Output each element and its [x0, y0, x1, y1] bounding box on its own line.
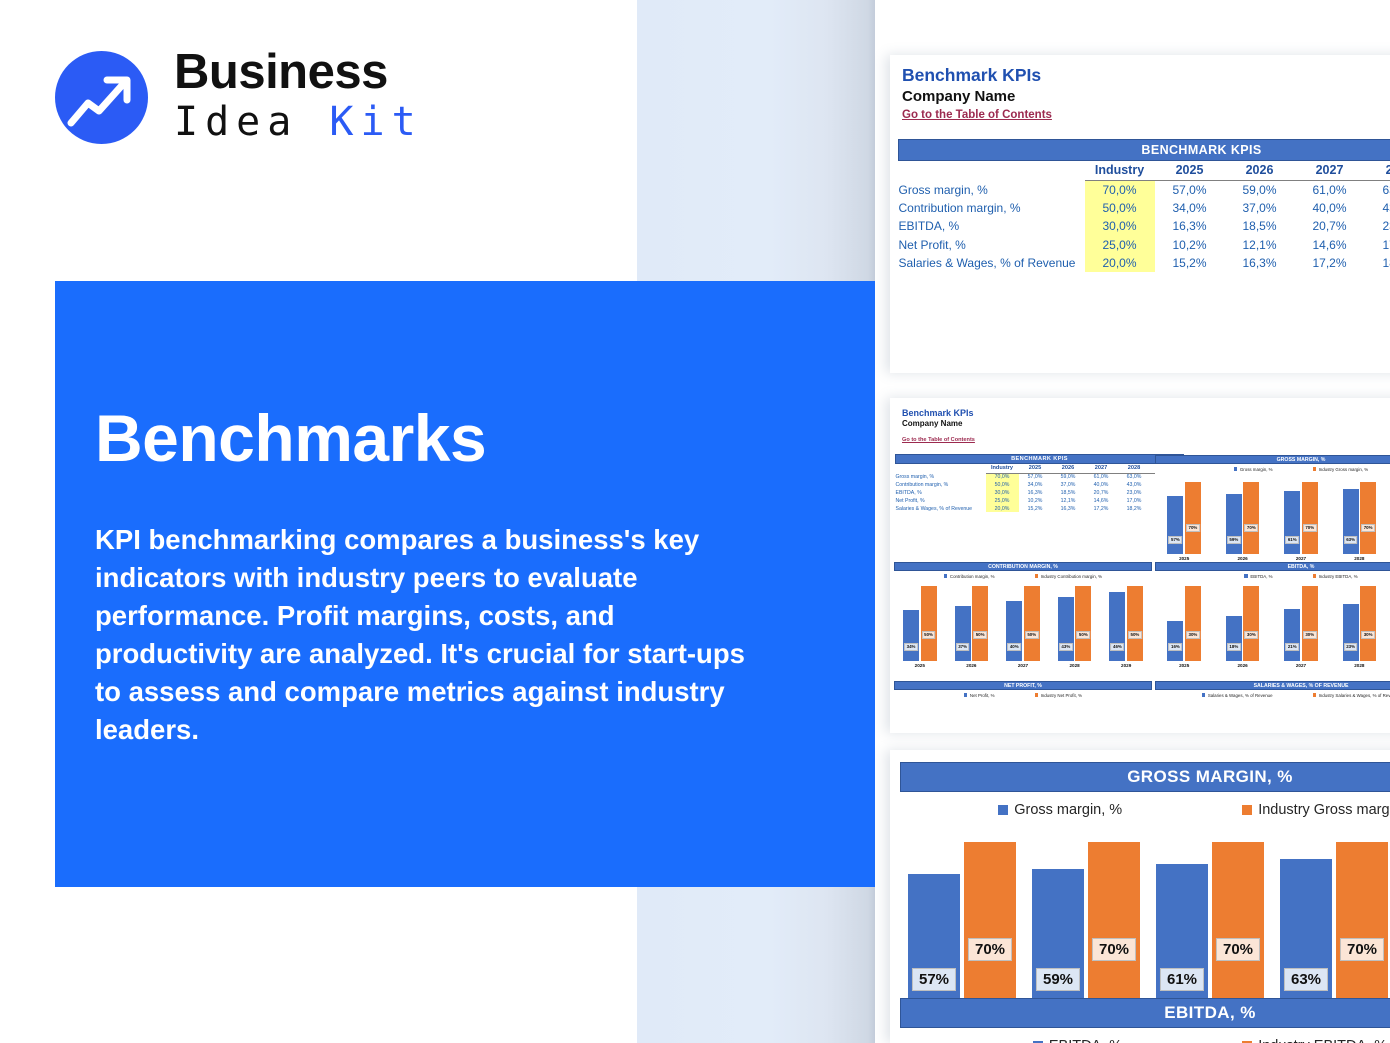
bar-company[interactable]: 46%: [1109, 592, 1125, 661]
x-axis-tick: 2026: [1223, 663, 1263, 668]
chart-plot-area: 34%50%37%50%40%50%43%50%46%50%: [894, 579, 1152, 661]
bar-group: 59%70%: [1024, 842, 1148, 1013]
bar-group: 34%50%: [900, 586, 940, 661]
table-column-header: 2027: [1295, 161, 1365, 181]
brand-idea-text: Idea: [174, 99, 298, 145]
mini-spreadsheet-header: Benchmark KPIs Company Name Go to the Ta…: [890, 398, 1390, 446]
bar-company[interactable]: 57%: [1167, 496, 1183, 554]
bar-group: 43%50%: [1055, 586, 1095, 661]
table-row: EBITDA, %30,0%16,3%18,5%20,7%23,0%25,2%: [899, 217, 1390, 235]
legend-item[interactable]: EBITDA, %: [1033, 1038, 1122, 1043]
year-value: 16,3%: [1155, 217, 1225, 235]
table-corner-cell: [896, 464, 986, 474]
chart-legend: Net Profit, %Industry Net Profit, %: [894, 693, 1152, 698]
bar-company[interactable]: 59%: [1226, 494, 1242, 554]
year-value: 61,0%: [1295, 181, 1365, 200]
bar-data-label: 46%: [1111, 643, 1125, 651]
year-value: 34,0%: [1155, 199, 1225, 217]
brand-wordmark: Business Idea Kit: [174, 48, 423, 146]
table-row: EBITDA, %30,0%16,3%18,5%20,7%23,0%25,2%: [896, 489, 1184, 497]
year-value: 18,2%: [1118, 505, 1151, 513]
row-label: Salaries & Wages, % of Revenue: [896, 505, 986, 513]
bar-data-label: 70%: [1340, 938, 1384, 961]
bar-group: 59%70%: [1223, 482, 1263, 554]
bar-data-label: 23%: [1344, 643, 1358, 651]
bar-data-label: 59%: [1036, 968, 1080, 991]
bar-company[interactable]: 61%: [1284, 491, 1300, 554]
table-row: Salaries & Wages, % of Revenue20,0%15,2%…: [896, 505, 1184, 513]
year-value: 14,6%: [1085, 497, 1118, 505]
spreadsheet-card-table[interactable]: Benchmark KPIs Company Name Go to the Ta…: [890, 55, 1390, 373]
row-label: EBITDA, %: [899, 217, 1085, 235]
bar-industry[interactable]: 30%: [1360, 586, 1376, 661]
bar-group: 23%30%: [1339, 586, 1379, 661]
legend-swatch-icon: [1313, 693, 1317, 697]
legend-label: Net Profit, %: [970, 693, 995, 698]
bar-company[interactable]: 21%: [1284, 609, 1300, 661]
bar-industry[interactable]: 30%: [1302, 586, 1318, 661]
legend-label: Industry Net Profit, %: [1041, 693, 1082, 698]
bar-company[interactable]: 63%: [1280, 859, 1332, 1013]
year-value: 15,2%: [1019, 505, 1052, 513]
bar-data-label: 30%: [1186, 631, 1200, 639]
bar-data-label: 21%: [1285, 643, 1299, 651]
bar-industry[interactable]: 70%: [1243, 482, 1259, 554]
industry-value: 70,0%: [986, 473, 1019, 481]
mini-benchmark-kpi-table: BENCHMARK KPIS Industry20252026202720282…: [895, 454, 1184, 512]
chart-panel-ebitda-large[interactable]: EBITDA, %EBITDA, %Industry EBITDA, %: [900, 998, 1390, 1043]
bar-company[interactable]: 63%: [1343, 489, 1359, 554]
bar-industry[interactable]: 70%: [1088, 842, 1140, 1013]
year-value: 23,0%: [1118, 489, 1151, 497]
bar-data-label: 34%: [904, 643, 918, 651]
legend-item[interactable]: Net Profit, %: [964, 693, 995, 698]
table-of-contents-link[interactable]: Go to the Table of Contents: [902, 109, 1052, 121]
chart-panel-salaries-wages[interactable]: SALARIES & WAGES, % OF REVENUESalaries &…: [1155, 681, 1390, 698]
x-axis-tick: 2026: [951, 663, 991, 668]
chart-plot-area: 16%30%18%30%21%30%23%30%25%30%: [1155, 579, 1390, 661]
bar-company[interactable]: 43%: [1058, 597, 1074, 661]
legend-swatch-icon: [1313, 574, 1317, 578]
year-value: 17,2%: [1295, 254, 1365, 272]
legend-label: Industry Salaries & Wages, % of Revenue: [1319, 693, 1390, 698]
bar-data-label: 70%: [1216, 938, 1260, 961]
bar-data-label: 63%: [1284, 968, 1328, 991]
year-value: 10,2%: [1155, 236, 1225, 254]
year-value: 23,0%: [1365, 217, 1390, 235]
chart-plot-area: 57%70%59%70%61%70%63%70%65%70%: [900, 818, 1390, 1013]
legend-swatch-icon: [1313, 467, 1317, 471]
bar-company[interactable]: 59%: [1032, 869, 1084, 1013]
x-axis: 20252026202720282029: [1155, 663, 1390, 668]
spreadsheet-title: Benchmark KPIs: [902, 65, 1390, 86]
x-axis-tick: 2029: [1106, 663, 1146, 668]
year-value: 16,3%: [1225, 254, 1295, 272]
bar-industry[interactable]: 50%: [921, 586, 937, 661]
legend-item[interactable]: Industry EBITDA, %: [1242, 1038, 1387, 1043]
bar-data-label: 50%: [922, 631, 936, 639]
year-value: 16,3%: [1052, 505, 1085, 513]
chart-panel-ebitda[interactable]: EBITDA, %EBITDA, %Industry EBITDA, %16%3…: [1155, 562, 1390, 668]
year-value: 12,1%: [1052, 497, 1085, 505]
chart-plot-area: 57%70%59%70%61%70%63%70%65%70%: [1155, 472, 1390, 554]
year-value: 59,0%: [1052, 473, 1085, 481]
bar-group: 63%70%: [1272, 842, 1390, 1013]
bar-group: 40%50%: [1003, 586, 1043, 661]
x-axis-tick: 2026: [1223, 556, 1263, 561]
table-column-header: 2028: [1365, 161, 1390, 181]
chart-panel-gross-margin[interactable]: GROSS MARGIN, %Gross margin, %Industry G…: [1155, 455, 1390, 561]
year-value: 63,0%: [1365, 181, 1390, 200]
chart-legend: EBITDA, %Industry EBITDA, %: [900, 1038, 1390, 1043]
year-value: 37,0%: [1225, 199, 1295, 217]
industry-value: 20,0%: [986, 505, 1019, 513]
bar-data-label: 18%: [1227, 643, 1241, 651]
mini-table-body: Gross margin, %70,0%57,0%59,0%61,0%63,0%…: [896, 473, 1184, 512]
year-value: 17,2%: [1085, 505, 1118, 513]
industry-value: 50,0%: [1085, 199, 1155, 217]
chart-panel-gross-margin-large[interactable]: GROSS MARGIN, %Gross margin, %Industry G…: [900, 762, 1390, 1037]
year-value: 16,3%: [1019, 489, 1052, 497]
bar-industry[interactable]: 30%: [1243, 586, 1259, 661]
chart-legend: Salaries & Wages, % of RevenueIndustry S…: [1155, 693, 1390, 698]
bar-data-label: 61%: [1285, 536, 1299, 544]
x-axis: 20252026202720282029: [1155, 556, 1390, 561]
table-row: Contribution margin, %50,0%34,0%37,0%40,…: [896, 481, 1184, 489]
bar-industry[interactable]: 50%: [1075, 586, 1091, 661]
benchmark-kpi-table: BENCHMARK KPIS Industry20252026202720282…: [898, 139, 1390, 272]
bar-data-label: 70%: [1092, 938, 1136, 961]
row-label: Contribution margin, %: [899, 199, 1085, 217]
year-value: 18,5%: [1052, 489, 1085, 497]
bar-data-label: 70%: [1361, 524, 1375, 532]
hero-panel: Benchmarks KPI benchmarking compares a b…: [55, 281, 875, 887]
trend-arrow-up-icon: [55, 51, 148, 144]
year-value: 20,7%: [1295, 217, 1365, 235]
bar-data-label: 70%: [1186, 524, 1200, 532]
year-value: 63,0%: [1118, 473, 1151, 481]
bar-group: 57%70%: [1164, 482, 1204, 554]
table-column-header: Industry: [1085, 161, 1155, 181]
year-value: 17,0%: [1118, 497, 1151, 505]
year-value: 43,0%: [1118, 481, 1151, 489]
year-value: 15,2%: [1155, 254, 1225, 272]
legend-item[interactable]: Industry Net Profit, %: [1035, 693, 1082, 698]
table-banner: BENCHMARK KPIS: [899, 140, 1390, 161]
year-value: 10,2%: [1019, 497, 1052, 505]
row-label: EBITDA, %: [896, 489, 986, 497]
brand-logo: Business Idea Kit: [55, 48, 423, 146]
x-axis-tick: 2025: [1164, 663, 1204, 668]
table-column-header: 2027: [1085, 464, 1118, 474]
table-column-header: 2025: [1019, 464, 1052, 474]
bar-group: 18%30%: [1223, 586, 1263, 661]
row-label: Gross margin, %: [899, 181, 1085, 200]
bar-company[interactable]: 37%: [955, 606, 971, 661]
x-axis: 20252026202720282029: [894, 663, 1152, 668]
bar-group: 46%50%: [1106, 586, 1146, 661]
bar-data-label: 30%: [1361, 631, 1375, 639]
legend-label: Gross margin, %: [1014, 802, 1122, 818]
bar-industry[interactable]: 70%: [1360, 482, 1376, 554]
bar-company[interactable]: 34%: [903, 610, 919, 661]
row-label: Gross margin, %: [896, 473, 986, 481]
legend-swatch-icon: [1035, 574, 1039, 578]
bar-industry[interactable]: 50%: [1127, 586, 1143, 661]
bar-company[interactable]: 57%: [908, 874, 960, 1013]
legend-item[interactable]: Salaries & Wages, % of Revenue: [1202, 693, 1273, 698]
chart-panel-contribution-margin[interactable]: CONTRIBUTION MARGIN, %Contribution margi…: [894, 562, 1152, 668]
bar-data-label: 59%: [1227, 536, 1241, 544]
bar-data-label: 50%: [1128, 631, 1142, 639]
x-axis-tick: 2025: [900, 663, 940, 668]
chart-title-banner: CONTRIBUTION MARGIN, %: [894, 562, 1152, 571]
bar-group: 61%70%: [1148, 842, 1272, 1013]
brand-kit-text: Kit: [329, 99, 422, 145]
bar-data-label: 57%: [912, 968, 956, 991]
x-axis-tick: 2027: [1003, 663, 1043, 668]
year-value: 12,1%: [1225, 236, 1295, 254]
spreadsheet-card-dashboard[interactable]: Benchmark KPIs Company Name Go to the Ta…: [890, 398, 1390, 733]
year-value: 61,0%: [1085, 473, 1118, 481]
bar-company[interactable]: 18%: [1226, 616, 1242, 661]
year-value: 43,0%: [1365, 199, 1390, 217]
chart-title-banner: EBITDA, %: [1155, 562, 1390, 571]
row-label: Net Profit, %: [899, 236, 1085, 254]
chart-title-banner: NET PROFIT, %: [894, 681, 1152, 690]
year-value: 59,0%: [1225, 181, 1295, 200]
bar-data-label: 30%: [1244, 631, 1258, 639]
year-value: 34,0%: [1019, 481, 1052, 489]
legend-swatch-icon: [1242, 805, 1252, 815]
bar-company[interactable]: 40%: [1006, 601, 1022, 661]
industry-value: 70,0%: [1085, 181, 1155, 200]
table-row: Net Profit, %25,0%10,2%12,1%14,6%17,0%19…: [899, 236, 1390, 254]
legend-swatch-icon: [1035, 693, 1039, 697]
bar-group: 16%30%: [1164, 586, 1204, 661]
table-row: Contribution margin, %50,0%34,0%37,0%40,…: [899, 199, 1390, 217]
legend-swatch-icon: [998, 805, 1008, 815]
x-axis-tick: 2028: [1339, 556, 1379, 561]
bar-data-label: 40%: [1007, 643, 1021, 651]
row-label: Contribution margin, %: [896, 481, 986, 489]
page-title: Benchmarks: [95, 405, 809, 471]
legend-swatch-icon: [1234, 467, 1238, 471]
bar-industry[interactable]: 50%: [972, 586, 988, 661]
table-row: Gross margin, %70,0%57,0%59,0%61,0%63,0%…: [896, 473, 1184, 481]
year-value: 57,0%: [1155, 181, 1225, 200]
x-axis-tick: 2027: [1281, 556, 1321, 561]
legend-item[interactable]: Gross margin, %: [998, 802, 1122, 818]
spreadsheet-header: Benchmark KPIs Company Name Go to the Ta…: [890, 55, 1390, 123]
industry-value: 30,0%: [986, 489, 1019, 497]
x-axis-tick: 2028: [1339, 663, 1379, 668]
year-value: 17,0%: [1365, 236, 1390, 254]
year-value: 40,0%: [1295, 199, 1365, 217]
spreadsheet-subtitle: Company Name: [902, 88, 1390, 105]
industry-value: 25,0%: [1085, 236, 1155, 254]
bar-data-label: 16%: [1169, 643, 1183, 651]
industry-value: 25,0%: [986, 497, 1019, 505]
chart-panel-net-profit[interactable]: NET PROFIT, %Net Profit, %Industry Net P…: [894, 681, 1152, 698]
bar-data-label: 61%: [1160, 968, 1204, 991]
bar-group: 57%70%: [900, 842, 1024, 1013]
year-value: 14,6%: [1295, 236, 1365, 254]
bar-industry[interactable]: 70%: [1302, 482, 1318, 554]
bar-data-label: 70%: [968, 938, 1012, 961]
chart-title-banner: EBITDA, %: [900, 998, 1390, 1028]
table-body: Gross margin, %70,0%57,0%59,0%61,0%63,0%…: [899, 181, 1390, 272]
chart-title-banner: SALARIES & WAGES, % OF REVENUE: [1155, 681, 1390, 690]
mini-spreadsheet-title: Benchmark KPIs: [902, 408, 1390, 418]
bar-company[interactable]: 23%: [1343, 604, 1359, 661]
spreadsheet-card-large-chart[interactable]: GROSS MARGIN, %Gross margin, %Industry G…: [890, 750, 1390, 1043]
mini-table-header-row: Industry20252026202720282029: [896, 464, 1184, 474]
bar-industry[interactable]: 70%: [1336, 842, 1388, 1013]
legend-label: Salaries & Wages, % of Revenue: [1208, 693, 1273, 698]
slide-canvas: Business Idea Kit Benchmarks KPI benchma…: [0, 0, 1390, 1043]
bar-group: 61%70%: [1281, 482, 1321, 554]
bar-data-label: 50%: [973, 631, 987, 639]
table-column-header: 2026: [1052, 464, 1085, 474]
bar-company[interactable]: 61%: [1156, 864, 1208, 1013]
bar-data-label: 70%: [1303, 524, 1317, 532]
bar-industry[interactable]: 70%: [1212, 842, 1264, 1013]
chart-legend: Gross margin, %Industry Gross margin, %: [900, 802, 1390, 818]
bar-data-label: 50%: [1025, 631, 1039, 639]
table-corner-cell: [899, 161, 1085, 181]
legend-swatch-icon: [944, 574, 948, 578]
table-column-header: 2026: [1225, 161, 1295, 181]
chart-title-banner: GROSS MARGIN, %: [900, 762, 1390, 792]
mini-table-of-contents-link[interactable]: Go to the Table of Contents: [902, 437, 975, 443]
year-value: 20,7%: [1085, 489, 1118, 497]
bar-industry[interactable]: 70%: [964, 842, 1016, 1013]
bar-data-label: 43%: [1059, 643, 1073, 651]
bar-data-label: 50%: [1076, 631, 1090, 639]
mini-spreadsheet-subtitle: Company Name: [902, 419, 1390, 428]
legend-item[interactable]: Industry Salaries & Wages, % of Revenue: [1313, 693, 1390, 698]
mini-table-banner: BENCHMARK KPIS: [896, 455, 1184, 464]
bar-industry[interactable]: 50%: [1024, 586, 1040, 661]
industry-value: 50,0%: [986, 481, 1019, 489]
bar-group: 37%50%: [951, 586, 991, 661]
legend-swatch-icon: [1202, 693, 1206, 697]
legend-item[interactable]: Industry Gross margin, %: [1242, 802, 1390, 818]
bar-data-label: 30%: [1303, 631, 1317, 639]
bar-data-label: 63%: [1344, 536, 1358, 544]
table-row: Gross margin, %70,0%57,0%59,0%61,0%63,0%…: [899, 181, 1390, 200]
bar-industry[interactable]: 70%: [1185, 482, 1201, 554]
bar-company[interactable]: 16%: [1167, 621, 1183, 661]
legend-swatch-icon: [964, 693, 968, 697]
bar-group: 21%30%: [1281, 586, 1321, 661]
year-value: 18,5%: [1225, 217, 1295, 235]
x-axis-tick: 2028: [1055, 663, 1095, 668]
bar-data-label: 57%: [1169, 536, 1183, 544]
row-label: Salaries & Wages, % of Revenue: [899, 254, 1085, 272]
legend-label: EBITDA, %: [1049, 1038, 1122, 1043]
year-value: 18,2%: [1365, 254, 1390, 272]
table-header-row: Industry20252026202720282029: [899, 161, 1390, 181]
legend-label: Industry Gross margin, %: [1258, 802, 1390, 818]
chart-title-banner: GROSS MARGIN, %: [1155, 455, 1390, 464]
table-row: Net Profit, %25,0%10,2%12,1%14,6%17,0%19…: [896, 497, 1184, 505]
year-value: 57,0%: [1019, 473, 1052, 481]
bar-industry[interactable]: 30%: [1185, 586, 1201, 661]
table-column-header: 2028: [1118, 464, 1151, 474]
bar-data-label: 37%: [956, 643, 970, 651]
brand-line-idea-kit: Idea Kit: [174, 99, 423, 146]
brand-line-business: Business: [174, 48, 423, 97]
x-axis-tick: 2027: [1281, 663, 1321, 668]
year-value: 37,0%: [1052, 481, 1085, 489]
legend-label: Industry EBITDA, %: [1258, 1038, 1387, 1043]
table-column-header: 2025: [1155, 161, 1225, 181]
industry-value: 20,0%: [1085, 254, 1155, 272]
year-value: 40,0%: [1085, 481, 1118, 489]
hero-description: KPI benchmarking compares a business's k…: [95, 521, 775, 749]
x-axis-tick: 2025: [1164, 556, 1204, 561]
row-label: Net Profit, %: [896, 497, 986, 505]
bar-group: 63%70%: [1339, 482, 1379, 554]
bar-data-label: 70%: [1244, 524, 1258, 532]
table-row: Salaries & Wages, % of Revenue20,0%15,2%…: [899, 254, 1390, 272]
table-column-header: Industry: [986, 464, 1019, 474]
industry-value: 30,0%: [1085, 217, 1155, 235]
legend-swatch-icon: [1244, 574, 1248, 578]
